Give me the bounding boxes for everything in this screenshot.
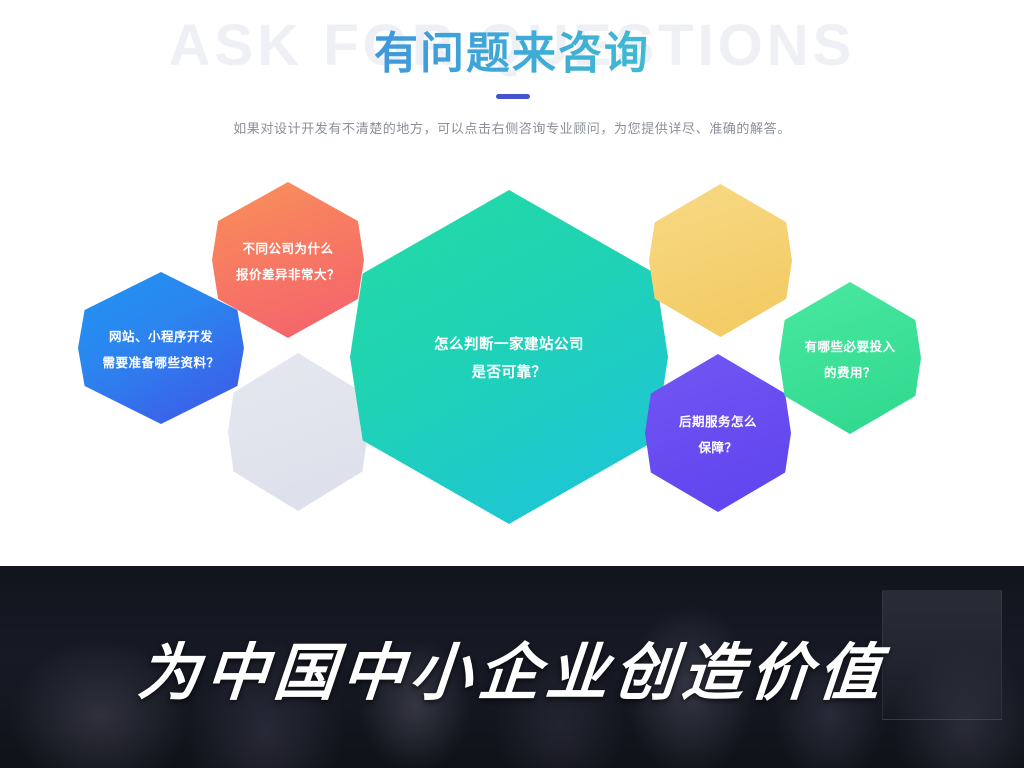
hexagon-line-2: 保障？ (698, 437, 737, 456)
hexagon-line-2: 需要准备哪些资料？ (102, 352, 219, 371)
title-divider (496, 94, 530, 99)
hexagon-decorative-gray[interactable] (228, 353, 368, 511)
hexagon-line-2: 报价差异非常大？ (236, 264, 340, 283)
slogan-banner: 为中国中小企业创造价值 (0, 566, 1024, 768)
hexagon-line-1: 网站、小程序开发 (109, 326, 213, 345)
hexagon-line-1: 后期服务怎么 (679, 411, 757, 430)
page-title: 有问题来咨询 (0, 26, 1024, 82)
page-subtitle: 如果对设计开发有不清楚的地方，可以点击右侧咨询专业顾问，为您提供详尽、准确的解答… (0, 119, 1024, 139)
hexagon-line-2: 的费用？ (824, 362, 876, 381)
hexagon-line-2: 是否可靠？ (472, 361, 547, 382)
hexagon-line-1: 有哪些必要投入 (804, 336, 895, 355)
hexagon-cluster: 网站、小程序开发 需要准备哪些资料？ 不同公司为什么 报价差异非常大？ 怎么判断… (0, 160, 1024, 560)
slogan-text: 为中国中小企业创造价值 (0, 636, 1024, 712)
hexagon-line-1: 怎么判断一家建站公司 (434, 333, 584, 354)
hexagon-question-costs[interactable]: 有哪些必要投入 的费用？ (779, 282, 921, 434)
hexagon-decorative-yellow[interactable] (649, 184, 792, 337)
hexagon-question-reliability[interactable]: 怎么判断一家建站公司 是否可靠？ (350, 190, 668, 524)
page-root: ASK FOR QUESTIONS 有问题来咨询 如果对设计开发有不清楚的地方，… (0, 0, 1024, 768)
faq-section: ASK FOR QUESTIONS 有问题来咨询 如果对设计开发有不清楚的地方，… (0, 0, 1024, 566)
hexagon-question-aftersales[interactable]: 后期服务怎么 保障？ (645, 354, 791, 512)
hexagon-line-1: 不同公司为什么 (242, 238, 333, 257)
